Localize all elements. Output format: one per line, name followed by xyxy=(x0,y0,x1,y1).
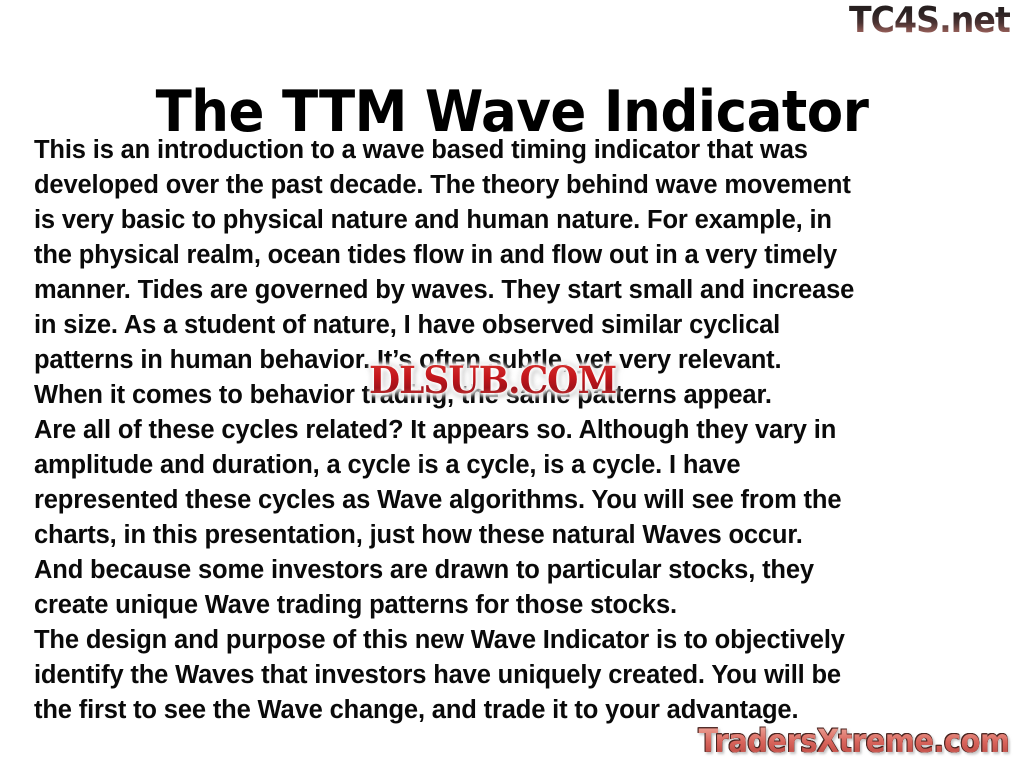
body-line: manner. Tides are governed by waves. The… xyxy=(34,273,994,308)
body-line: charts, in this presentation, just how t… xyxy=(34,518,994,553)
body-line: And because some investors are drawn to … xyxy=(34,553,994,588)
body-line: in size. As a student of nature, I have … xyxy=(34,308,994,343)
body-line: developed over the past decade. The theo… xyxy=(34,168,994,203)
body-line: amplitude and duration, a cycle is a cyc… xyxy=(34,448,994,483)
body-line: The design and purpose of this new Wave … xyxy=(34,623,994,658)
body-line: the physical realm, ocean tides flow in … xyxy=(34,238,994,273)
body-line: identify the Waves that investors have u… xyxy=(34,658,994,693)
brand-logo-tradersxtreme: TradersXtreme.com xyxy=(699,722,1010,760)
body-line: Are all of these cycles related? It appe… xyxy=(34,413,994,448)
watermark-dlsub: DLSUB.COM xyxy=(369,360,616,400)
body-line: is very basic to physical nature and hum… xyxy=(34,203,994,238)
body-copy: This is an introduction to a wave based … xyxy=(34,133,994,728)
brand-logo-tc4s: TC4S.net xyxy=(849,2,1010,40)
body-line: represented these cycles as Wave algorit… xyxy=(34,483,994,518)
body-line: This is an introduction to a wave based … xyxy=(34,133,994,168)
slide-canvas: TC4S.net The TTM Wave Indicator This is … xyxy=(0,0,1024,768)
body-line: create unique Wave trading patterns for … xyxy=(34,588,994,623)
